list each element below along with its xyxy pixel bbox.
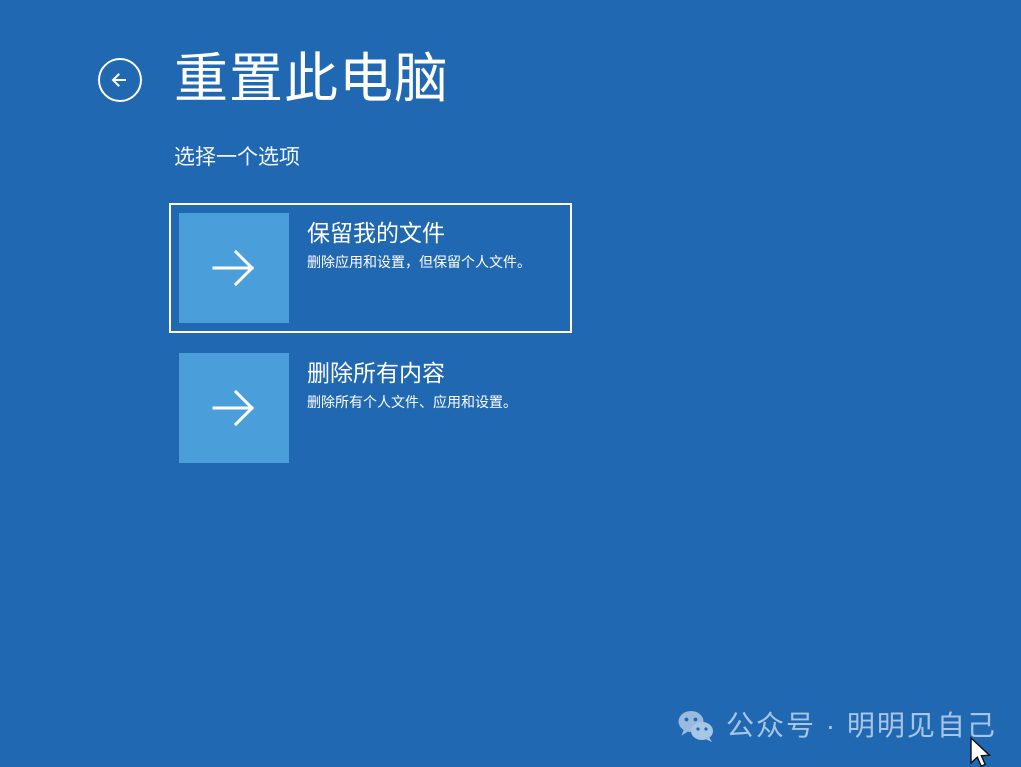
- option-description: 删除应用和设置，但保留个人文件。: [307, 252, 562, 272]
- mouse-pointer-icon: [968, 736, 994, 767]
- watermark: 公众号 · 明明见自己: [676, 704, 997, 748]
- arrow-right-icon: [202, 236, 266, 300]
- wechat-logo-icon: [676, 709, 716, 743]
- recovery-screen: 重置此电脑 选择一个选项 保留我的文件 删除应用和设置，但保留个人文件。: [0, 0, 1021, 767]
- page-title: 重置此电脑: [174, 36, 449, 122]
- watermark-text: 公众号 · 明明见自己: [726, 709, 997, 743]
- option-description: 删除所有个人文件、应用和设置。: [307, 392, 562, 412]
- option-title: 删除所有内容: [307, 358, 562, 388]
- option-keep-my-files[interactable]: 保留我的文件 删除应用和设置，但保留个人文件。: [169, 203, 572, 333]
- page-subtitle: 选择一个选项: [174, 143, 300, 173]
- option-list: 保留我的文件 删除应用和设置，但保留个人文件。 删除所有内容 删除所有个人文件、…: [169, 203, 869, 473]
- option-text: 删除所有内容 删除所有个人文件、应用和设置。: [289, 353, 562, 412]
- option-icon-tile: [179, 213, 289, 323]
- header: 重置此电脑 选择一个选项: [0, 0, 1021, 130]
- back-arrow-circle-icon[interactable]: [96, 56, 144, 104]
- arrow-right-icon: [202, 376, 266, 440]
- option-text: 保留我的文件 删除应用和设置，但保留个人文件。: [289, 213, 562, 272]
- option-remove-everything[interactable]: 删除所有内容 删除所有个人文件、应用和设置。: [169, 343, 572, 473]
- option-title: 保留我的文件: [307, 218, 562, 248]
- option-icon-tile: [179, 353, 289, 463]
